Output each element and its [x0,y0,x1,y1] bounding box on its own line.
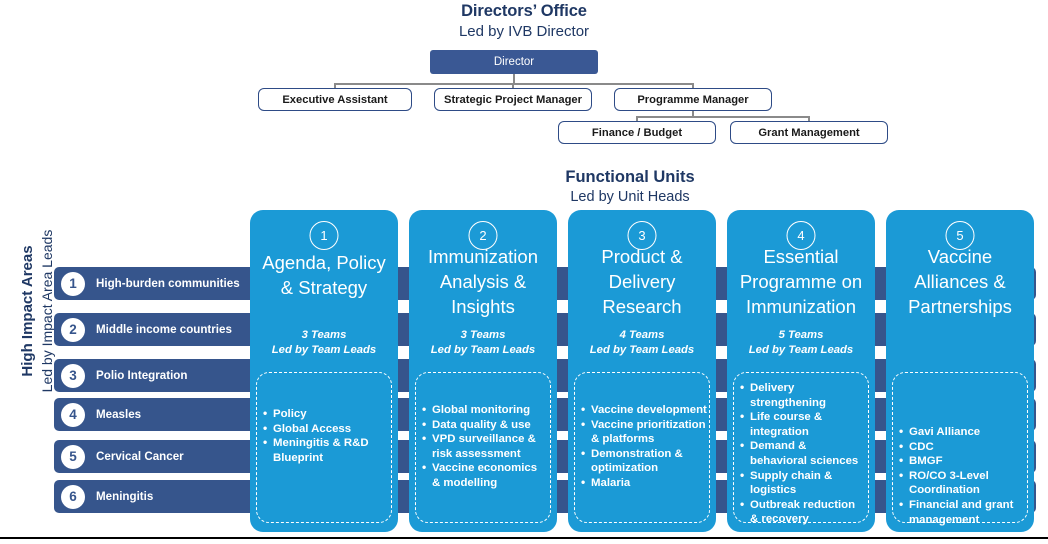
impact-area-number: 1 [61,272,85,296]
functional-unit-teams-lead: Led by Team Leads [254,343,394,358]
functional-unit-teams-count: 3 Teams [413,328,553,343]
functional-unit-column[interactable]: 5Vaccine Alliances & PartnershipsGavi Al… [886,210,1034,532]
functional-unit-column[interactable]: 1Agenda, Policy & Strategy3 TeamsLed by … [250,210,398,532]
functional-unit-teams-info: 3 TeamsLed by Team Leads [254,328,394,357]
functional-units-title: Functional Units [430,168,830,187]
role-box-finance-budget[interactable]: Finance / Budget [558,121,716,144]
functional-unit-teams-panel: Delivery strengtheningLife course & inte… [733,372,869,523]
functional-unit-column[interactable]: 2Immunization Analysis & Insights3 Teams… [409,210,557,532]
impact-area-number: 5 [61,445,85,469]
functional-unit-teams-panel: PolicyGlobal AccessMeningitis & R&D Blue… [256,372,392,523]
bottom-border-rule [0,537,1048,539]
functional-unit-title: Product & Delivery Research [574,244,710,319]
functional-unit-team-item: Malaria [579,476,707,491]
functional-unit-teams-count: 5 Teams [731,328,871,343]
functional-unit-teams-lead: Led by Team Leads [572,343,712,358]
functional-unit-team-item: Demand & behavioral sciences [738,439,866,468]
functional-unit-team-item: Vaccine prioritization & platforms [579,418,707,447]
functional-unit-teams-info: 3 TeamsLed by Team Leads [413,328,553,357]
functional-units-subtitle: Led by Unit Heads [430,189,830,205]
functional-unit-teams-info: 4 TeamsLed by Team Leads [572,328,712,357]
role-box-strategic-project-manager[interactable]: Strategic Project Manager [434,88,592,111]
functional-unit-team-item: Global monitoring [420,403,548,418]
impact-area-label: Measles [96,408,141,421]
role-box-programme-manager[interactable]: Programme Manager [614,88,772,111]
functional-unit-teams-count: 4 Teams [572,328,712,343]
impact-area-label: Middle income countries [96,323,232,336]
functional-unit-team-item: Vaccine development [579,403,707,418]
functional-unit-team-item: Data quality & use [420,418,548,433]
impact-area-number: 2 [61,318,85,342]
functional-unit-team-item: VPD surveillance & risk assessment [420,432,548,461]
functional-unit-team-item: Policy [261,407,389,422]
functional-unit-team-item: Outbreak reduction & recovery [738,498,866,527]
functional-unit-team-item: Financial and grant management [897,498,1025,527]
impact-areas-axis-subtitle: Led by Impact Area Leads [39,189,61,433]
functional-unit-teams-lead: Led by Team Leads [413,343,553,358]
functional-unit-title: Vaccine Alliances & Partnerships [892,244,1028,319]
functional-unit-team-item: CDC [897,440,1025,455]
role-box-grant-management[interactable]: Grant Management [730,121,888,144]
impact-area-number: 3 [61,364,85,388]
connector-director-horizontal [334,83,694,85]
functional-unit-team-item: Supply chain & logistics [738,469,866,498]
functional-unit-teams-panel: Global monitoringData quality & useVPD s… [415,372,551,523]
functional-unit-team-list: Global monitoringData quality & useVPD s… [420,403,548,491]
directors-office-subtitle: Led by IVB Director [324,23,724,40]
functional-unit-team-item: Meningitis & R&D Blueprint [261,436,389,465]
functional-unit-column[interactable]: 3Product & Delivery Research4 TeamsLed b… [568,210,716,532]
functional-unit-teams-lead: Led by Team Leads [731,343,871,358]
functional-unit-number-badge: 1 [310,221,339,250]
functional-unit-team-item: Life course & integration [738,410,866,439]
functional-unit-column[interactable]: 4Essential Programme on Immunization5 Te… [727,210,875,532]
impact-area-label: High-burden communities [96,277,240,290]
connector-director-vertical [513,74,515,83]
functional-unit-team-item: Gavi Alliance [897,425,1025,440]
impact-area-label: Cervical Cancer [96,450,184,463]
directors-office-title: Directors’ Office [324,2,724,21]
functional-unit-team-list: PolicyGlobal AccessMeningitis & R&D Blue… [261,407,389,465]
impact-area-label: Polio Integration [96,369,187,382]
functional-unit-team-list: Gavi AllianceCDCBMGFRO/CO 3-Level Coordi… [897,425,1025,527]
impact-area-label: Meningitis [96,490,153,503]
functional-unit-title: Immunization Analysis & Insights [415,244,551,319]
director-box[interactable]: Director [430,50,598,74]
functional-unit-title: Essential Programme on Immunization [733,244,869,319]
functional-unit-team-item: Delivery strengthening [738,381,866,410]
functional-unit-team-item: Global Access [261,422,389,437]
functional-unit-team-item: Vaccine economics & modelling [420,461,548,490]
functional-unit-teams-panel: Gavi AllianceCDCBMGFRO/CO 3-Level Coordi… [892,372,1028,523]
functional-unit-teams-info: 5 TeamsLed by Team Leads [731,328,871,357]
functional-unit-team-item: Demonstration & optimization [579,447,707,476]
functional-unit-teams-count: 3 Teams [254,328,394,343]
impact-area-number: 4 [61,403,85,427]
impact-area-number: 6 [61,485,85,509]
impact-areas-axis-title: High Impact Areas [19,189,41,433]
functional-unit-teams-panel: Vaccine developmentVaccine prioritizatio… [574,372,710,523]
functional-unit-title: Agenda, Policy & Strategy [256,250,392,300]
functional-unit-team-item: RO/CO 3-Level Coordination [897,469,1025,498]
functional-unit-team-item: BMGF [897,454,1025,469]
functional-unit-team-list: Vaccine developmentVaccine prioritizatio… [579,403,707,491]
connector-pm-horizontal [636,116,810,118]
role-box-executive-assistant[interactable]: Executive Assistant [258,88,412,111]
org-chart-canvas: Directors’ Office Led by IVB Director Di… [0,0,1048,544]
functional-unit-team-list: Delivery strengtheningLife course & inte… [738,381,866,527]
